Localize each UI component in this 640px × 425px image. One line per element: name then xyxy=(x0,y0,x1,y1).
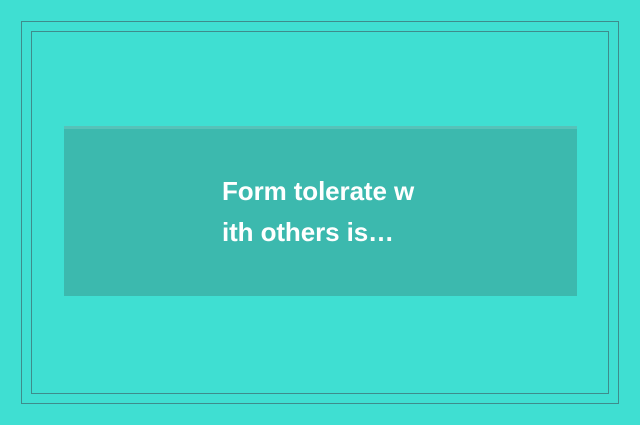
panel-text-line-2: ith others is… xyxy=(222,212,394,253)
panel-top-highlight xyxy=(64,126,577,129)
screenshot-canvas: Form tolerate w ith others is… xyxy=(0,0,640,425)
panel-text-line-1: Form tolerate w xyxy=(222,171,414,212)
content-panel: Form tolerate w ith others is… xyxy=(64,126,577,296)
